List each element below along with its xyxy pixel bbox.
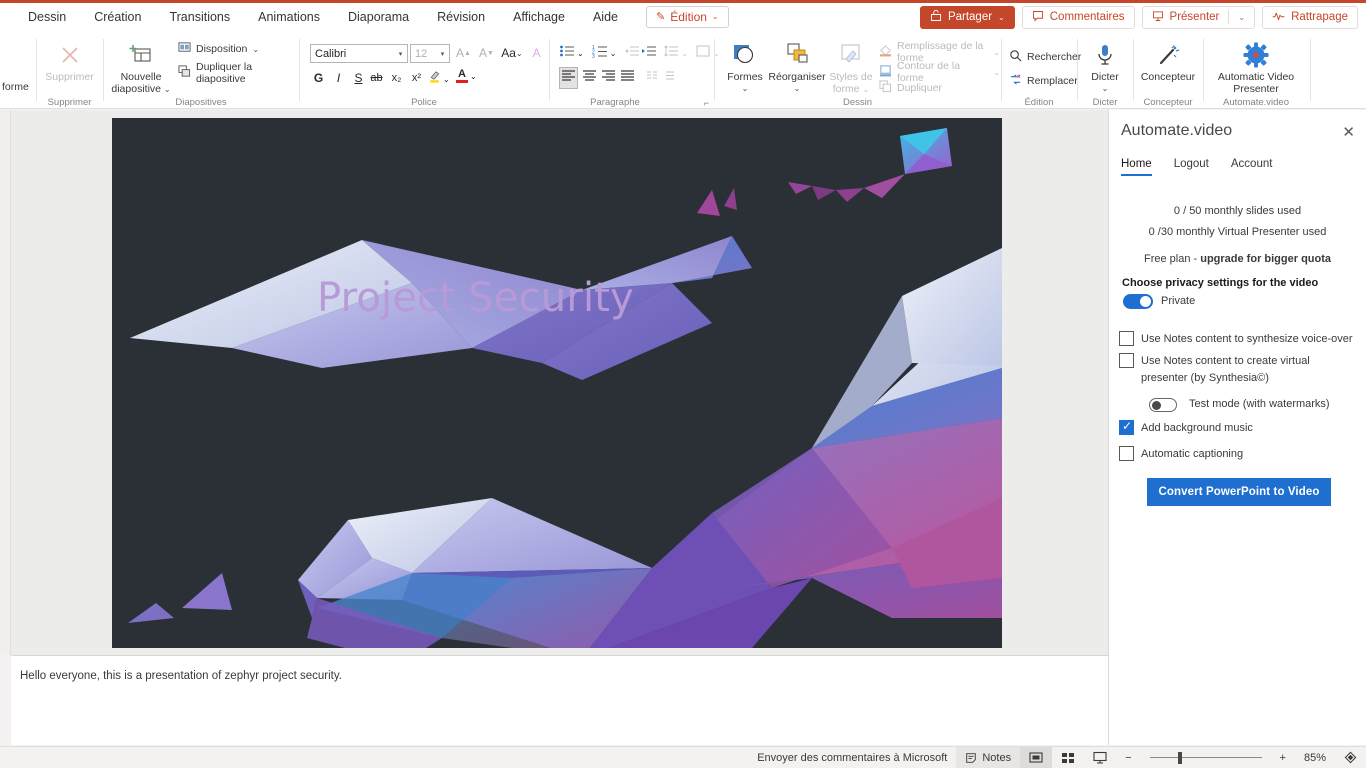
shape-styles-label-1: Styles de bbox=[829, 71, 872, 83]
ribbon-group-font: Calibri ▾ 12 ▾ A▲ A▼ Aa⌄ A G I S ab x₂ x… bbox=[300, 33, 548, 109]
divider bbox=[1228, 10, 1229, 24]
grow-font-button[interactable]: A▲ bbox=[455, 44, 472, 62]
window-actions: Partager ⌄ Commentaires Présenter ⌄ bbox=[920, 5, 1358, 29]
paragraph-row-1: ⌄ 123⌄ ⌄ ⌄ bbox=[559, 44, 720, 63]
label-virtual-presenter-2: presenter (by Synthesia©) bbox=[1141, 371, 1359, 386]
shape-outline-icon bbox=[879, 64, 892, 80]
automatic-video-presenter-button[interactable]: Automatic Video Presenter bbox=[1204, 37, 1308, 95]
find-button[interactable]: Rechercher bbox=[1009, 49, 1081, 65]
font-size-value: 12 bbox=[411, 48, 436, 60]
zoom-level-label: 85% bbox=[1304, 752, 1326, 764]
fit-slide-icon[interactable] bbox=[1335, 747, 1366, 768]
comment-icon bbox=[1032, 10, 1044, 25]
test-mode-toggle[interactable] bbox=[1149, 398, 1177, 412]
zoom-track bbox=[1150, 757, 1262, 758]
chevron-down-icon: ⌄ bbox=[252, 45, 259, 54]
label-virtual-presenter-1: Use Notes content to create virtual bbox=[1141, 354, 1359, 369]
shapes-label: Formes bbox=[727, 71, 763, 83]
checkbox-background-music[interactable] bbox=[1119, 420, 1134, 435]
zoom-level[interactable]: 85% bbox=[1295, 747, 1335, 768]
ribbon-tab-revision[interactable]: Révision bbox=[423, 0, 499, 33]
reading-view-icon[interactable] bbox=[1020, 747, 1052, 768]
chevron-down-icon: ⌄ bbox=[1238, 13, 1245, 22]
present-label: Présenter bbox=[1170, 11, 1220, 23]
highlight-pen-icon bbox=[428, 69, 441, 89]
notes-pane[interactable]: Hello everyone, this is a presentation o… bbox=[11, 655, 1108, 745]
bullets-button[interactable] bbox=[559, 44, 575, 63]
powerpoint-window: Dessin Création Transitions Animations D… bbox=[0, 0, 1366, 768]
send-feedback-label: Envoyer des commentaires à Microsoft bbox=[757, 752, 947, 764]
avp-label-2: Presenter bbox=[1233, 83, 1279, 95]
ribbon-group-delete: Supprimer Supprimer bbox=[37, 33, 102, 109]
notes-icon bbox=[965, 752, 977, 764]
quota-virtual-presenter: 0 /30 monthly Virtual Presenter used bbox=[1109, 226, 1366, 238]
group-label-dictate: Dicter bbox=[1078, 97, 1132, 108]
group-label-font: Police bbox=[300, 97, 548, 108]
upgrade-link[interactable]: upgrade for bigger quota bbox=[1200, 253, 1331, 265]
notes-toggle-button[interactable]: Notes bbox=[956, 747, 1020, 768]
increase-indent-button[interactable] bbox=[641, 44, 656, 63]
group-label-paragraph: Paragraphe bbox=[550, 97, 680, 108]
comments-label: Commentaires bbox=[1050, 11, 1125, 23]
duplicate-slide-label: Dupliquer la diapositive bbox=[196, 61, 298, 85]
slideshow-icon[interactable] bbox=[1084, 747, 1116, 768]
numbering-button[interactable]: 123 bbox=[592, 44, 608, 63]
ribbon-tab-diaporama[interactable]: Diaporama bbox=[334, 0, 423, 33]
bold-button[interactable]: G bbox=[310, 69, 327, 87]
tab-label: Affichage bbox=[513, 10, 565, 24]
task-pane-tabs: Home Logout Account bbox=[1121, 158, 1272, 176]
clear-formatting-icon[interactable]: A bbox=[528, 44, 545, 62]
comments-button[interactable]: Commentaires bbox=[1022, 6, 1135, 29]
gear-play-icon bbox=[1243, 42, 1269, 71]
shapes-button[interactable]: Formes ⌄ bbox=[721, 37, 769, 95]
ribbon-group-shape-partial: forme bbox=[0, 33, 36, 109]
privacy-toggle-label: Private bbox=[1161, 295, 1195, 307]
italic-button[interactable]: I bbox=[330, 69, 347, 87]
share-label: Partager bbox=[948, 11, 992, 23]
paragraph-row-2 bbox=[559, 67, 677, 89]
tab-logout[interactable]: Logout bbox=[1174, 158, 1209, 176]
superscript-button[interactable]: x² bbox=[408, 69, 425, 87]
ribbon-tab-affichage[interactable]: Affichage bbox=[499, 0, 579, 33]
bold-label: G bbox=[314, 71, 323, 85]
font-color-icon: A bbox=[456, 69, 468, 83]
change-case-button[interactable]: Aa⌄ bbox=[498, 44, 526, 62]
text-highlight-button[interactable]: ⌄ bbox=[428, 69, 452, 89]
ribbon-tab-dessin[interactable]: Dessin bbox=[14, 0, 80, 33]
layout-button[interactable]: Disposition ⌄ bbox=[178, 41, 259, 57]
tab-label: Diaporama bbox=[348, 10, 409, 24]
divider bbox=[1310, 39, 1311, 101]
status-bar: Envoyer des commentaires à Microsoft Not… bbox=[0, 746, 1366, 768]
checkbox-virtual-presenter[interactable] bbox=[1119, 353, 1134, 368]
slide-sorter-icon[interactable] bbox=[1052, 747, 1084, 768]
notes-label: Notes bbox=[982, 752, 1011, 764]
decrease-indent-button[interactable] bbox=[624, 44, 639, 63]
privacy-toggle[interactable] bbox=[1123, 294, 1153, 309]
chevron-down-icon: ⌄ bbox=[712, 12, 719, 21]
tab-account[interactable]: Account bbox=[1231, 158, 1273, 176]
duplicate-slide-icon bbox=[178, 65, 191, 81]
chevron-down-icon: ▾ bbox=[394, 50, 407, 58]
tab-label: Révision bbox=[437, 10, 485, 24]
ribbon-group-drawing: Formes ⌄ Réorganiser ⌄ Styles de forme ⌄… bbox=[715, 33, 1000, 109]
zoom-in-button[interactable]: + bbox=[1271, 747, 1295, 768]
x-icon bbox=[57, 42, 83, 71]
text-align-vertical-button[interactable] bbox=[663, 69, 677, 87]
quota-slides: 0 / 50 monthly slides used bbox=[1109, 205, 1366, 217]
group-label-automate-video: Automate.video bbox=[1204, 97, 1308, 108]
toggle-knob bbox=[1140, 296, 1151, 307]
arrange-button[interactable]: Réorganiser ⌄ bbox=[767, 37, 827, 95]
new-slide-label-1: Nouvelle bbox=[121, 71, 162, 83]
replace-button[interactable]: Remplacer bbox=[1009, 73, 1078, 89]
group-label-editing: Édition bbox=[1002, 97, 1076, 108]
tab-label: Animations bbox=[258, 10, 320, 24]
catchup-button[interactable]: Rattrapage bbox=[1262, 6, 1358, 29]
ribbon-group-editing: Rechercher Remplacer Édition bbox=[1002, 33, 1076, 109]
shape-label: forme bbox=[2, 81, 29, 93]
slide-thumbnail-pane[interactable] bbox=[0, 110, 11, 655]
ribbon-group-automate-video: Automatic Video Presenter Automate.video bbox=[1204, 33, 1308, 109]
convert-button-label: Convert PowerPoint to Video bbox=[1159, 486, 1320, 498]
plan-prefix: Free plan - bbox=[1144, 253, 1200, 265]
tab-label: Création bbox=[94, 10, 141, 24]
chevron-down-icon: ▾ bbox=[436, 50, 449, 58]
paragraph-dialog-launcher-icon[interactable]: ⌐ bbox=[704, 98, 709, 108]
toggle-knob bbox=[1152, 401, 1161, 410]
align-left-button[interactable] bbox=[559, 67, 578, 89]
microphone-icon bbox=[1092, 42, 1118, 71]
share-icon bbox=[930, 10, 942, 25]
arrange-label: Réorganiser bbox=[768, 71, 825, 83]
tab-account-label: Account bbox=[1231, 158, 1273, 170]
checkbox-voice-over[interactable] bbox=[1119, 331, 1134, 346]
convert-powerpoint-to-video-button[interactable]: Convert PowerPoint to Video bbox=[1147, 478, 1331, 506]
notes-text[interactable]: Hello everyone, this is a presentation o… bbox=[20, 670, 342, 682]
change-case-label: Aa bbox=[501, 46, 516, 60]
zoom-out-button[interactable]: − bbox=[1116, 747, 1140, 768]
layout-icon bbox=[178, 41, 191, 57]
plan-line: Free plan - upgrade for bigger quota bbox=[1109, 253, 1366, 265]
subscript-button[interactable]: x₂ bbox=[388, 69, 405, 87]
shape-styles-icon bbox=[837, 42, 865, 71]
underline-button[interactable]: S bbox=[350, 69, 367, 87]
new-slide-label-2: diapositive ⌄ bbox=[111, 83, 170, 96]
tab-label: Transitions bbox=[169, 10, 230, 24]
dictate-label: Dicter bbox=[1091, 71, 1118, 83]
ribbon-tab-animations[interactable]: Animations bbox=[244, 0, 334, 33]
ribbon-group-slides: Nouvelle diapositive ⌄ Disposition ⌄ Dup… bbox=[104, 33, 298, 109]
avp-label-1: Automatic Video bbox=[1218, 71, 1294, 83]
duplicate-button[interactable]: Dupliquer bbox=[879, 80, 942, 96]
send-feedback-button[interactable]: Envoyer des commentaires à Microsoft bbox=[748, 747, 956, 768]
ribbon-group-paragraph: ⌄ 123⌄ ⌄ ⌄ Paragraphe ⌐ bbox=[550, 33, 713, 109]
font-color-letter: A bbox=[458, 69, 466, 80]
test-mode-label: Test mode (with watermarks) bbox=[1189, 398, 1330, 410]
catchup-label: Rattrapage bbox=[1291, 11, 1348, 23]
zoom-thumb[interactable] bbox=[1178, 752, 1182, 764]
justify-button[interactable] bbox=[620, 69, 635, 87]
shrink-font-button[interactable]: A▼ bbox=[478, 44, 495, 62]
tab-label: Dessin bbox=[28, 10, 66, 24]
new-slide-icon bbox=[128, 42, 154, 71]
duplicate-slide-button[interactable]: Dupliquer la diapositive bbox=[178, 61, 298, 85]
tab-label: Aide bbox=[593, 10, 618, 24]
font-size-select[interactable]: 12 ▾ bbox=[410, 44, 450, 63]
designer-label: Concepteur bbox=[1141, 71, 1195, 83]
designer-button[interactable]: Concepteur bbox=[1134, 37, 1202, 83]
line-spacing-button[interactable] bbox=[664, 44, 679, 63]
font-color-button[interactable]: A ⌄ bbox=[456, 69, 482, 83]
layout-label: Disposition bbox=[196, 43, 247, 55]
ribbon-tab-bar: Dessin Création Transitions Animations D… bbox=[0, 0, 1366, 33]
font-color-swatch bbox=[456, 80, 468, 83]
group-label-designer: Concepteur bbox=[1134, 97, 1202, 108]
subscript-label: x₂ bbox=[392, 72, 402, 84]
font-family-select[interactable]: Calibri ▾ bbox=[310, 44, 408, 63]
font-family-value: Calibri bbox=[311, 48, 394, 60]
replace-label: Remplacer bbox=[1027, 75, 1078, 87]
ribbon-group-dictate: Dicter ⌄ Dicter bbox=[1078, 33, 1132, 109]
shape-fill-icon bbox=[879, 44, 892, 60]
strike-label: ab bbox=[370, 72, 382, 84]
automate-video-task-pane: Automate.video ✕ Home Logout Account 0 /… bbox=[1108, 110, 1366, 745]
ribbon: forme Supprimer Supprimer bbox=[0, 33, 1366, 109]
label-automatic-captioning: Automatic captioning bbox=[1141, 447, 1243, 462]
group-label-delete: Supprimer bbox=[37, 97, 102, 108]
zoom-out-label: − bbox=[1125, 752, 1131, 764]
zoom-slider-track-wrap bbox=[1150, 751, 1262, 765]
superscript-label: x² bbox=[412, 72, 421, 84]
slide-title-text[interactable]: Project Security bbox=[317, 275, 634, 321]
ribbon-tab-creation[interactable]: Création bbox=[80, 0, 155, 33]
edit-mode-label: Édition bbox=[670, 10, 707, 24]
columns-button[interactable] bbox=[645, 69, 659, 87]
dictate-button[interactable]: Dicter ⌄ bbox=[1078, 37, 1132, 95]
group-label-drawing: Dessin bbox=[715, 97, 1000, 108]
underline-label: S bbox=[354, 71, 362, 85]
replace-icon bbox=[1009, 73, 1022, 89]
duplicate-label: Dupliquer bbox=[897, 82, 942, 94]
label-voice-over: Use Notes content to synthesize voice-ov… bbox=[1141, 332, 1359, 347]
arrange-icon bbox=[783, 42, 811, 71]
strikethrough-button[interactable]: ab bbox=[368, 69, 385, 87]
svg-text:3: 3 bbox=[592, 54, 595, 58]
delete-slide-label: Supprimer bbox=[45, 71, 93, 83]
ribbon-tab-transitions[interactable]: Transitions bbox=[155, 0, 244, 33]
shapes-icon bbox=[731, 42, 759, 71]
edit-mode-button[interactable]: ✎ Édition ⌄ bbox=[646, 6, 729, 28]
present-icon bbox=[1152, 10, 1164, 25]
search-icon bbox=[1009, 49, 1022, 65]
slide-canvas[interactable]: Project Security bbox=[112, 118, 1002, 648]
pen-icon: ✎ bbox=[656, 10, 665, 23]
ribbon-tabs: Dessin Création Transitions Animations D… bbox=[0, 0, 729, 33]
shape-styles-button[interactable]: Styles de forme ⌄ bbox=[825, 37, 877, 96]
magic-wand-icon bbox=[1155, 42, 1181, 71]
close-icon[interactable]: ✕ bbox=[1342, 123, 1355, 141]
duplicate-icon bbox=[879, 80, 892, 96]
slide-background-artwork bbox=[112, 118, 1002, 648]
label-background-music: Add background music bbox=[1141, 421, 1253, 436]
chevron-down-icon: ⌄ bbox=[998, 13, 1005, 22]
shape-styles-label-2: forme ⌄ bbox=[833, 83, 869, 96]
delete-slide-button[interactable]: Supprimer bbox=[37, 37, 102, 83]
align-right-button[interactable] bbox=[601, 69, 616, 87]
new-slide-button[interactable]: Nouvelle diapositive ⌄ bbox=[106, 37, 176, 96]
ribbon-tab-aide[interactable]: Aide bbox=[579, 0, 632, 33]
find-label: Rechercher bbox=[1027, 51, 1081, 63]
task-pane-title: Automate.video bbox=[1121, 122, 1232, 140]
italic-label: I bbox=[337, 71, 340, 85]
align-center-button[interactable] bbox=[582, 69, 597, 87]
ribbon-group-designer: Concepteur Concepteur bbox=[1134, 33, 1202, 109]
tab-home[interactable]: Home bbox=[1121, 158, 1152, 176]
zoom-in-label: + bbox=[1280, 752, 1286, 764]
group-label-slides: Diapositives bbox=[104, 97, 298, 108]
share-button[interactable]: Partager ⌄ bbox=[920, 6, 1015, 29]
present-button[interactable]: Présenter ⌄ bbox=[1142, 6, 1256, 29]
tab-logout-label: Logout bbox=[1174, 158, 1209, 170]
activity-icon bbox=[1272, 10, 1285, 25]
text-direction-button[interactable] bbox=[696, 44, 711, 63]
privacy-settings-label: Choose privacy settings for the video bbox=[1122, 277, 1318, 289]
checkbox-automatic-captioning[interactable] bbox=[1119, 446, 1134, 461]
zoom-slider[interactable] bbox=[1141, 747, 1271, 768]
tab-home-label: Home bbox=[1121, 158, 1152, 170]
